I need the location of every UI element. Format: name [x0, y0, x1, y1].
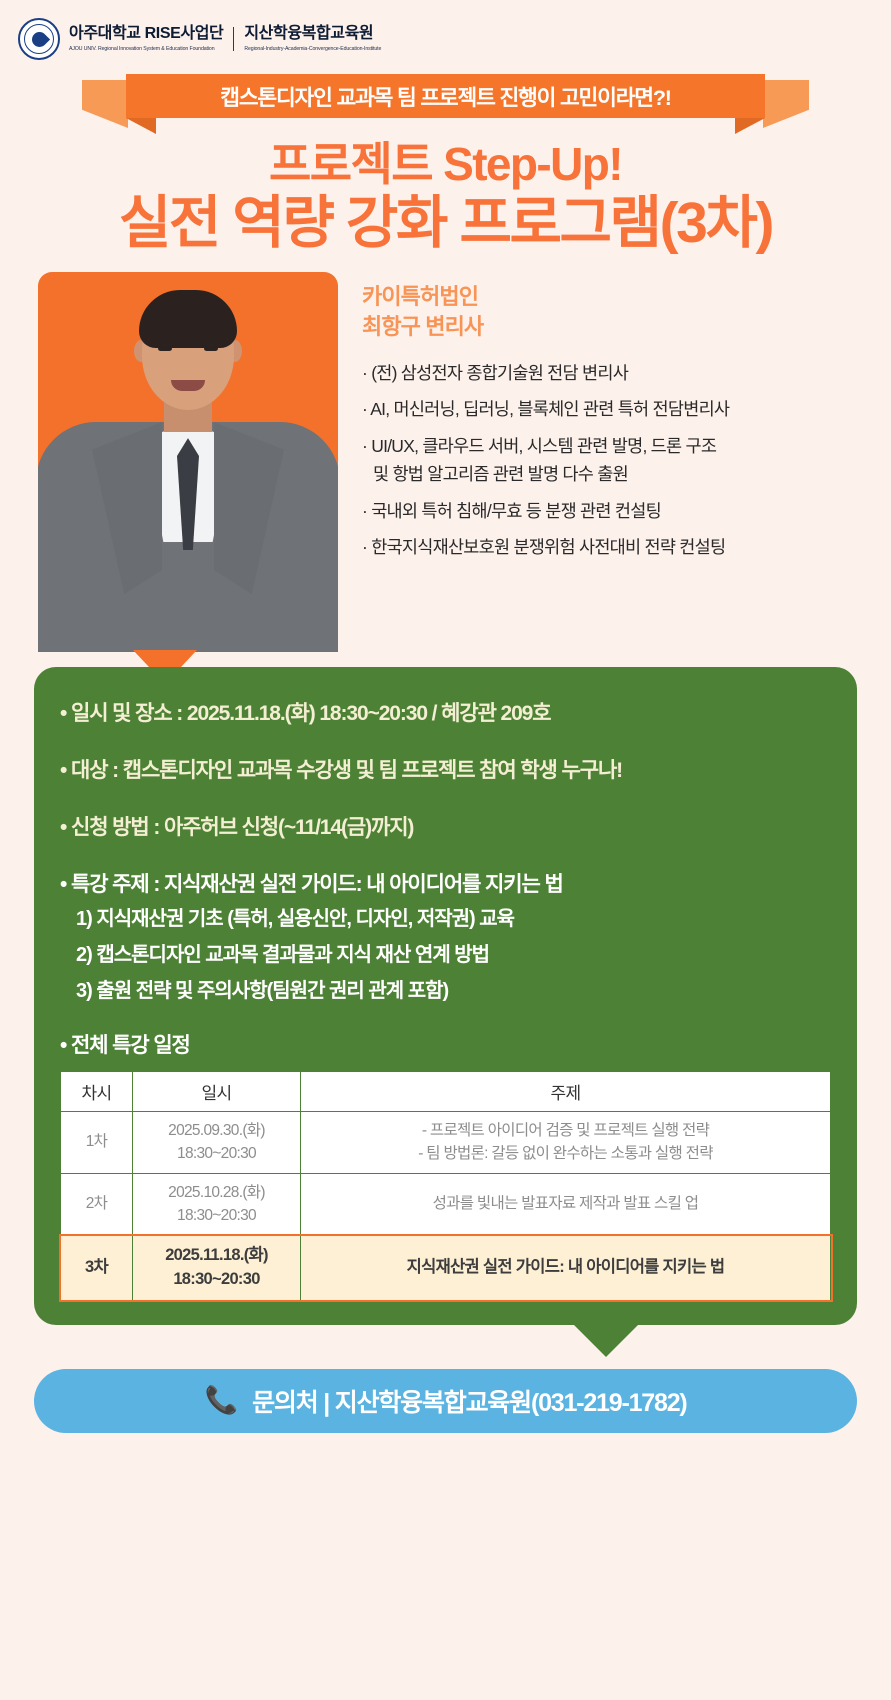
rise-foundation-name-en: AJOU UNIV. Regional Innovation System & … [69, 46, 223, 53]
detail-topic-item: 2) 캡스톤디자인 교과목 결과물과 지식 재산 연계 방법 [76, 938, 831, 967]
cell-datetime: 2025.09.30.(화) 18:30~20:30 [133, 1112, 301, 1174]
table-header-row: 차시 일시 주제 [61, 1072, 831, 1112]
speaker-credential: · 한국지식재산보호원 분쟁위험 사전대비 전략 컨설팅 [362, 534, 875, 561]
cell-topic-line1: - 프로젝트 아이디어 검증 및 프로젝트 실행 전략 [422, 1122, 709, 1139]
institute-name-ko: 지산학융복합교육원 [244, 25, 381, 43]
detail-topic-item: 3) 출원 전략 및 주의사항(팀원간 권리 관계 포함) [76, 974, 831, 1003]
institute-name-en: Regional-Industry-Academia-Convergence-E… [244, 46, 381, 53]
cell-topic-line2: - 팀 방법론: 갈등 없이 완수하는 소통과 실행 전략 [418, 1145, 713, 1162]
detail-when-where: • 일시 및 장소 : 2025.11.18.(화) 18:30~20:30 /… [60, 697, 831, 727]
poster-title-line2: 실전 역량 강화 프로그램(3차) [0, 194, 891, 254]
cell-date: 2025.09.30.(화) [168, 1122, 265, 1139]
cell-session: 2차 [61, 1174, 133, 1236]
institute-block: 지산학융복합교육원 Regional-Industry-Academia-Con… [244, 25, 381, 52]
phone-ringing-icon: 📞 [204, 1387, 238, 1414]
university-seal-icon [18, 18, 60, 60]
cell-topic: 지식재산권 실전 가이드: 내 아이디어를 지키는 법 [301, 1236, 831, 1301]
ribbon-text: 캡스톤디자인 교과목 팀 프로젝트 진행이 고민이라면?! [220, 81, 671, 112]
ribbon-banner: 캡스톤디자인 교과목 팀 프로젝트 진행이 고민이라면?! [0, 74, 891, 122]
logo-divider [233, 27, 234, 50]
cell-session: 3차 [61, 1236, 133, 1301]
ribbon-notch-left [126, 118, 156, 134]
cell-time: 18:30~20:30 [177, 1207, 256, 1224]
detail-topic-heading: • 특강 주제 : 지식재산권 실전 가이드: 내 아이디어를 지키는 법 [60, 868, 831, 898]
logo-text-group: 아주대학교 RISE사업단 AJOU UNIV. Regional Innova… [69, 25, 381, 52]
poster-title-line1: 프로젝트 Step-Up! [0, 140, 891, 188]
event-details-box: • 일시 및 장소 : 2025.11.18.(화) 18:30~20:30 /… [34, 667, 857, 1325]
table-row: 1차 2025.09.30.(화) 18:30~20:30 - 프로젝트 아이디… [61, 1112, 831, 1174]
poster-header: 아주대학교 RISE사업단 AJOU UNIV. Regional Innova… [0, 0, 891, 60]
column-header-datetime: 일시 [133, 1072, 301, 1112]
speaker-credential: · 국내외 특허 침해/무효 등 분쟁 관련 컨설팅 [362, 498, 875, 525]
detail-audience: • 대상 : 캡스톤디자인 교과목 수강생 및 팀 프로젝트 참여 학생 누구나… [60, 754, 831, 784]
cell-topic: - 프로젝트 아이디어 검증 및 프로젝트 실행 전략 - 팀 방법론: 갈등 … [301, 1112, 831, 1174]
speaker-credential: · AI, 머신러닝, 딥러닝, 블록체인 관련 특허 전담변리사 [362, 396, 875, 423]
rise-foundation-name-ko: 아주대학교 RISE사업단 [69, 25, 223, 43]
speaker-photo [38, 272, 338, 652]
ribbon-tail-right [763, 80, 809, 128]
column-header-session: 차시 [61, 1072, 133, 1112]
ribbon-tail-left [82, 80, 128, 128]
cell-session: 1차 [61, 1112, 133, 1174]
ribbon-notch-right [735, 118, 765, 134]
speaker-eye-right [204, 346, 218, 351]
green-box-pointer-arrow [572, 1323, 640, 1357]
schedule-heading: • 전체 특강 일정 [60, 1029, 831, 1059]
cell-date: 2025.10.28.(화) [168, 1184, 265, 1201]
speaker-credential: · (전) 삼성전자 종합기술원 전담 변리사 [362, 360, 875, 387]
speaker-credential-continued: 및 항법 알고리즘 관련 발명 다수 출원 [362, 461, 875, 488]
rise-foundation-block: 아주대학교 RISE사업단 AJOU UNIV. Regional Innova… [69, 25, 223, 52]
speaker-info: 카이특허법인 최항구 변리사 · (전) 삼성전자 종합기술원 전담 변리사 ·… [362, 282, 875, 571]
cell-time: 18:30~20:30 [173, 1270, 259, 1288]
speaker-name: 최항구 변리사 [362, 312, 875, 342]
detail-apply: • 신청 방법 : 아주허브 신청(~11/14(금)까지) [60, 811, 831, 841]
speaker-credential-list: · (전) 삼성전자 종합기술원 전담 변리사 · AI, 머신러닝, 딥러닝,… [362, 360, 875, 562]
column-header-topic: 주제 [301, 1072, 831, 1112]
table-row: 2차 2025.10.28.(화) 18:30~20:30 성과를 빛내는 발표… [61, 1174, 831, 1236]
cell-date: 2025.11.18.(화) [165, 1246, 268, 1264]
detail-topic-item: 1) 지식재산권 기초 (특허, 실용신안, 디자인, 저작권) 교육 [76, 902, 831, 931]
cell-time: 18:30~20:30 [177, 1145, 256, 1162]
cell-datetime: 2025.10.28.(화) 18:30~20:30 [133, 1174, 301, 1236]
contact-bar: 📞 문의처 | 지산학융복합교육원(031-219-1782) [34, 1369, 857, 1433]
speaker-organization: 카이특허법인 [362, 282, 875, 312]
schedule-table: 차시 일시 주제 1차 2025.09.30.(화) 18:30~20:30 -… [60, 1071, 831, 1301]
contact-text: 문의처 | 지산학융복합교육원(031-219-1782) [252, 1383, 686, 1419]
cell-topic: 성과를 빛내는 발표자료 제작과 발표 스킬 업 [301, 1174, 831, 1236]
speaker-hair [139, 290, 237, 348]
table-row-highlighted: 3차 2025.11.18.(화) 18:30~20:30 지식재산권 실전 가… [61, 1236, 831, 1301]
schedule-table-wrap: 차시 일시 주제 1차 2025.09.30.(화) 18:30~20:30 -… [60, 1071, 831, 1301]
speaker-eye-left [158, 346, 172, 351]
speaker-section: 카이특허법인 최항구 변리사 · (전) 삼성전자 종합기술원 전담 변리사 ·… [0, 272, 891, 667]
cell-datetime: 2025.11.18.(화) 18:30~20:30 [133, 1236, 301, 1301]
speaker-credential: · UI/UX, 클라우드 서버, 시스템 관련 발명, 드론 구조 [362, 433, 875, 460]
ribbon-body: 캡스톤디자인 교과목 팀 프로젝트 진행이 고민이라면?! [126, 74, 765, 118]
